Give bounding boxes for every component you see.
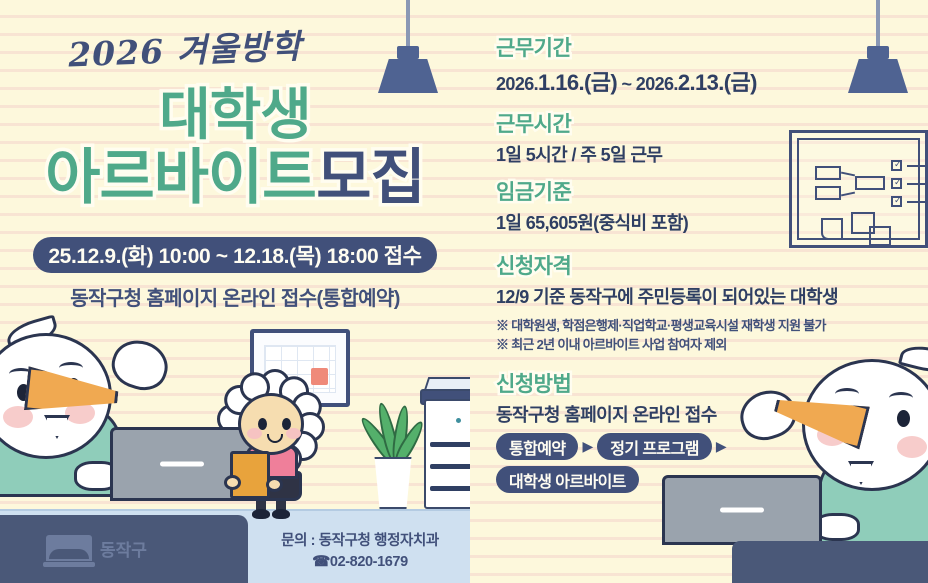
- desk-logo-label: 동작구: [100, 536, 147, 561]
- mascot-cheek: [286, 428, 301, 439]
- copier-tray: [430, 486, 470, 491]
- period-end-date: 2.13.(금): [678, 70, 757, 95]
- laptop-screen: [662, 475, 822, 545]
- office-illustration: 동작구 문의 : 동작구청 행정자치과 ☎02-820-1679: [0, 305, 470, 583]
- right-column: 근무기간 2026.1.16.(금) ~ 2026.2.13.(금) 근무시간 …: [470, 0, 928, 583]
- contact-phone: ☎02-820-1679: [250, 552, 470, 573]
- application-period-badge: 25.12.9.(화) 10:00 ~ 12.18.(목) 18:00 접수: [33, 237, 437, 273]
- eligibility-note-1: ※ 대학원생, 학점은행제·직업학교·평생교육시설 재학생 지원 불가: [496, 317, 916, 336]
- bird-eye: [897, 410, 910, 427]
- mascot-shoe: [272, 509, 290, 519]
- chevron-right-icon: ▶: [582, 438, 593, 455]
- mascot-cheek: [247, 428, 262, 439]
- mascot-shoe: [252, 509, 270, 519]
- section-heading: 근무시간: [496, 108, 916, 138]
- bird-brow: [835, 388, 859, 400]
- plant-pot: [372, 457, 414, 509]
- copier-indicator: [456, 418, 461, 423]
- apply-step-regular-program[interactable]: 정기 프로그램: [597, 433, 712, 460]
- copier-tray: [430, 442, 470, 447]
- bird-brow: [59, 362, 83, 374]
- left-column: 2026 겨울방학 대학생 아르바이트모집 25.12.9.(화) 10:00 …: [0, 0, 470, 583]
- section-heading: 근무기간: [496, 32, 916, 62]
- bird-cheek: [897, 436, 927, 458]
- section-eligibility: 신청자격 12/9 기준 동작구에 주민등록이 되어있는 대학생 ※ 대학원생,…: [496, 250, 916, 355]
- bird-brow: [889, 392, 913, 404]
- desk-left: 동작구: [0, 515, 248, 583]
- desk-right: [732, 541, 928, 583]
- potted-plant-icon: [362, 397, 424, 509]
- title-line-2: 아르바이트모집: [0, 149, 470, 208]
- bird-hand: [106, 334, 174, 397]
- mascot-hand: [224, 475, 241, 490]
- period-separator: ~ 2026.: [617, 74, 678, 94]
- contact-info: 문의 : 동작구청 행정자치과 ☎02-820-1679: [250, 531, 470, 573]
- handwritten-subtitle: 2026 겨울방학: [0, 17, 371, 79]
- section-body: 1일 5시간 / 주 5일 근무: [496, 141, 916, 167]
- mascot-face: [238, 393, 304, 455]
- title-text-university-student: 대학생: [159, 83, 311, 146]
- mascot-mouth: [267, 434, 283, 443]
- title-text-parttime: 아르바이트: [45, 144, 316, 211]
- section-heading: 신청자격: [496, 250, 916, 280]
- bird-mascot-left-icon: [0, 319, 212, 515]
- copier-body: [424, 399, 470, 509]
- title-line-1: 대학생: [0, 88, 470, 143]
- poster-root: 2026 겨울방학 대학생 아르바이트모집 25.12.9.(화) 10:00 …: [0, 0, 928, 583]
- title-text-recruit: 모집: [316, 144, 424, 211]
- section-work-hours: 근무시간 1일 5시간 / 주 5일 근무: [496, 108, 916, 167]
- section-heading: 임금기준: [496, 176, 916, 206]
- period-prefix-1: 2026.: [496, 74, 538, 94]
- apply-step-integrated-reservation[interactable]: 통합예약: [496, 433, 578, 460]
- dongjak-logo-icon: [46, 535, 92, 561]
- chevron-right-icon: ▶: [716, 438, 727, 455]
- section-body: 12/9 기준 동작구에 주민등록이 되어있는 대학생: [496, 283, 916, 309]
- section-wage: 임금기준 1일 65,605원(중식비 포함): [496, 176, 916, 235]
- mascot-eye: [258, 418, 267, 430]
- page-title: 대학생 아르바이트모집: [0, 88, 470, 208]
- office-copier-icon: [424, 359, 470, 509]
- section-body: 1일 65,605원(중식비 포함): [496, 209, 916, 235]
- section-body: 2026.1.16.(금) ~ 2026.2.13.(금): [496, 65, 916, 97]
- period-start-date: 1.16.(금): [538, 70, 617, 95]
- apply-step-university-parttime[interactable]: 대학생 아르바이트: [496, 466, 639, 493]
- desk-logo: 동작구: [46, 535, 147, 561]
- copier-tray: [430, 464, 470, 469]
- mascot-hand: [266, 477, 283, 492]
- section-work-period: 근무기간 2026.1.16.(금) ~ 2026.2.13.(금): [496, 32, 916, 97]
- contact-department: 문의 : 동작구청 행정자치과: [250, 531, 470, 552]
